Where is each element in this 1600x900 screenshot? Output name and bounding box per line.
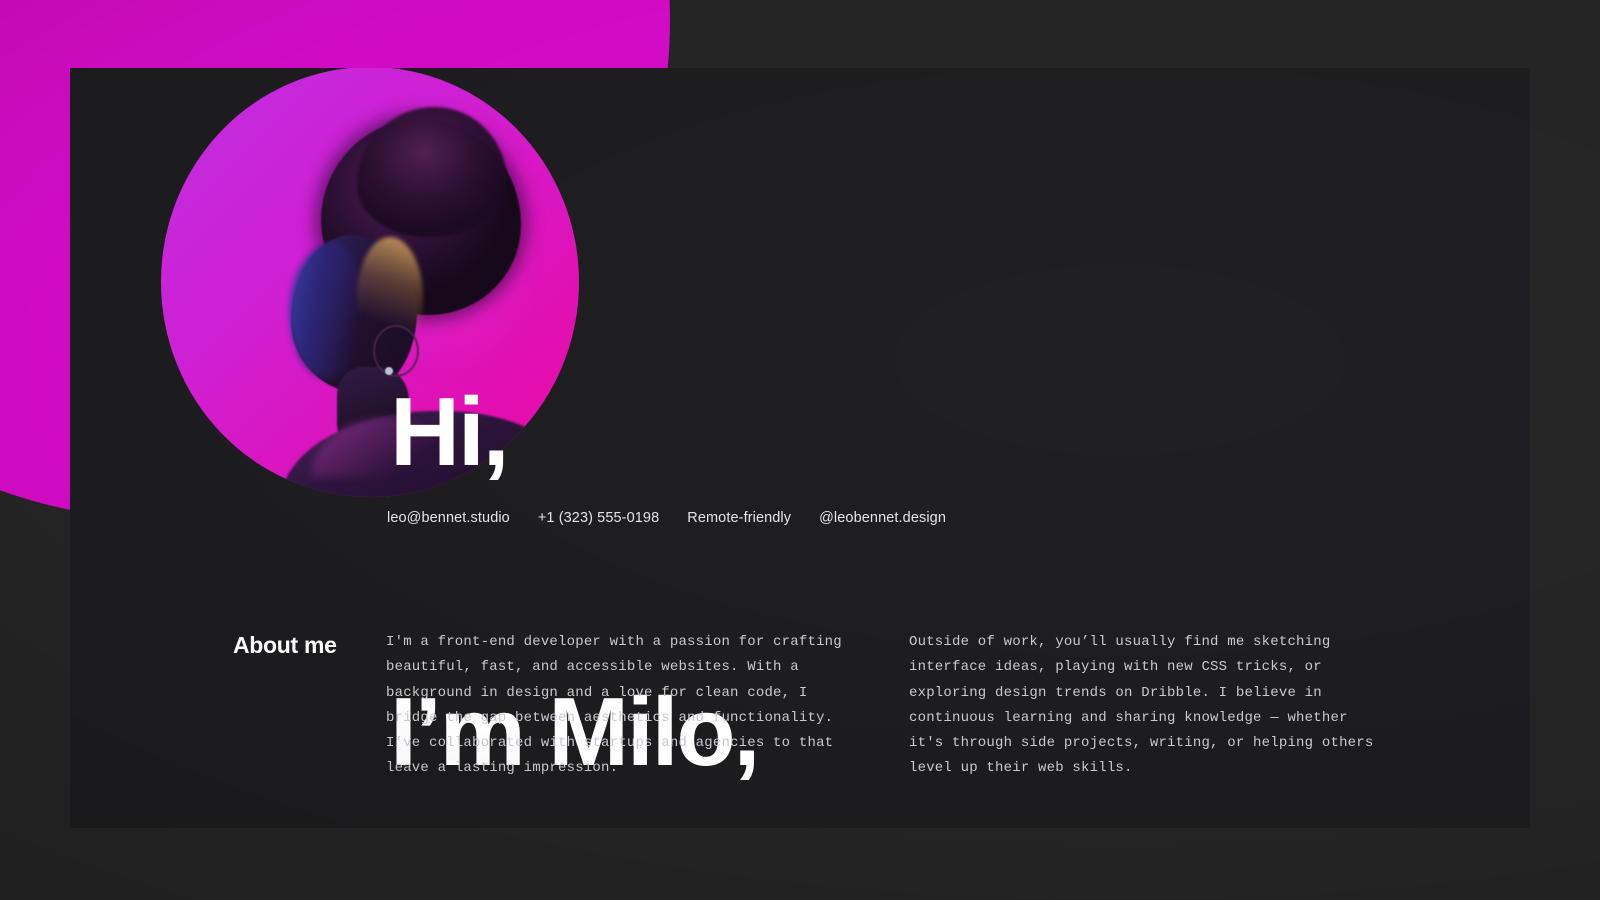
headline-line-1: Hi, — [390, 382, 796, 482]
hero-section: Hi, I’m Milo, I do code leo@bennet.studi… — [70, 68, 1530, 828]
about-heading: About me — [233, 630, 386, 659]
contact-phone[interactable]: +1 (323) 555-0198 — [538, 510, 659, 526]
contact-email[interactable]: leo@bennet.studio — [387, 510, 510, 526]
about-section: About me I'm a front-end developer with … — [233, 630, 1493, 782]
contact-row: leo@bennet.studio +1 (323) 555-0198 Remo… — [387, 510, 946, 526]
about-paragraph-right: Outside of work, you’ll usually find me … — [909, 630, 1384, 782]
about-paragraph-left: I'm a front-end developer with a passion… — [386, 630, 861, 782]
about-columns: I'm a front-end developer with a passion… — [386, 630, 1493, 782]
page-root: Hi, I’m Milo, I do code leo@bennet.studi… — [0, 0, 1600, 900]
hero-card: Hi, I’m Milo, I do code leo@bennet.studi… — [70, 68, 1530, 828]
contact-handle[interactable]: @leobennet.design — [819, 510, 946, 526]
contact-availability: Remote-friendly — [687, 510, 791, 526]
